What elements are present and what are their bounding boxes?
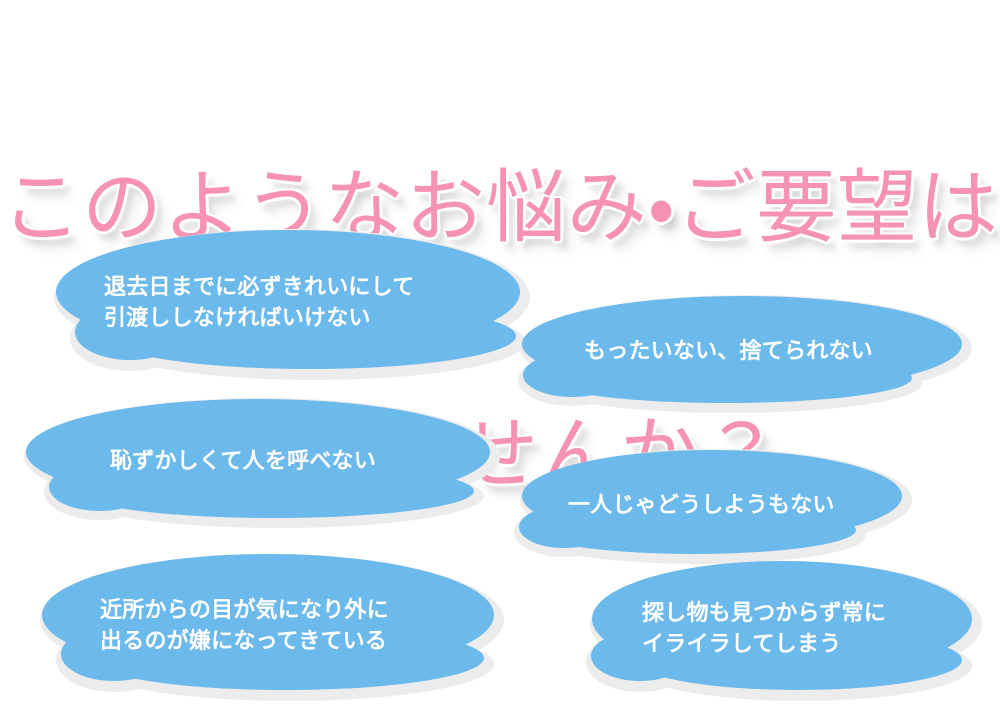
cloud-shape-icon [498,288,978,414]
cloud-shape-icon [32,222,544,382]
cloud-shape-icon [6,392,510,530]
cloud-shape-icon [498,442,918,568]
concern-bubble-neighbors-eyes: 近所からの目が気になり外に 出るのが嫌になってきている [22,546,522,704]
poster-canvas: このようなお悩み・ご要望は ありませんか？ 退去日までに必ずきれいにして 引渡し… [0,0,1000,710]
cloud-shape-icon [22,546,522,704]
concern-bubble-cannot-do-alone: 一人じゃどうしようもない [498,442,918,568]
concern-bubble-wasteful-cannot-discard: もったいない、捨てられない [498,288,978,414]
concern-bubble-cannot-find-things: 探し物も見つからず常に イライラしてしまう [572,552,992,704]
cloud-shape-icon [572,552,992,704]
concern-bubble-move-out-deadline: 退去日までに必ずきれいにして 引渡ししなければいけない [32,222,544,382]
concern-bubble-too-embarrassed: 恥ずかしくて人を呼べない [6,392,510,530]
